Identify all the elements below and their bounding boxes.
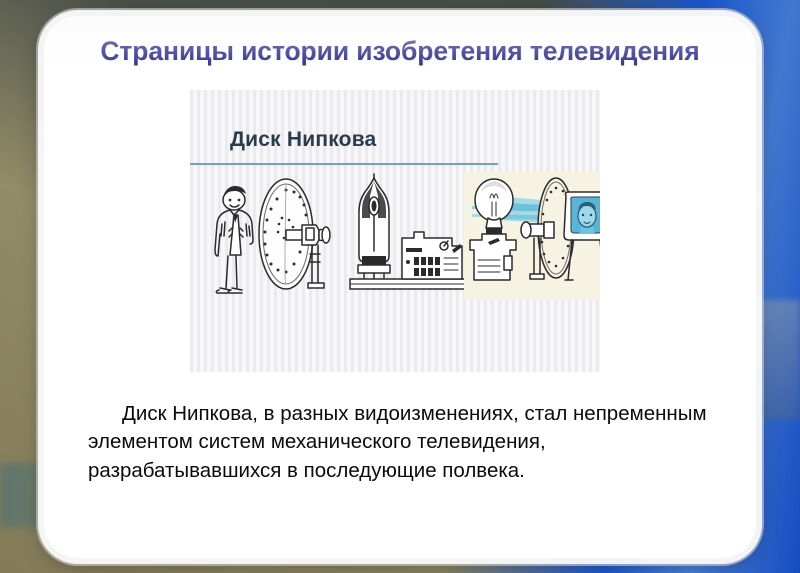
vacuum-tube-apparatus-icon [350,174,474,289]
picture-heading-rule [190,163,498,165]
nipkow-disk-illustration: Диск Нипкова [190,90,600,372]
man-with-nipkow-disk-icon [215,179,330,293]
slide-card: Страницы истории изобретения телевидения… [44,16,756,558]
presentation-slide-screenshot: Страницы истории изобретения телевидения… [0,0,800,573]
slide-content-area: Страницы истории изобретения телевидения… [44,16,756,558]
page-title: Страницы истории изобретения телевидения [44,36,756,67]
slide-body-text: Диск Нипкова, в разных видоизменениях, с… [88,400,718,485]
picture-heading: Диск Нипкова [230,128,376,152]
illustration-scene [190,172,600,332]
